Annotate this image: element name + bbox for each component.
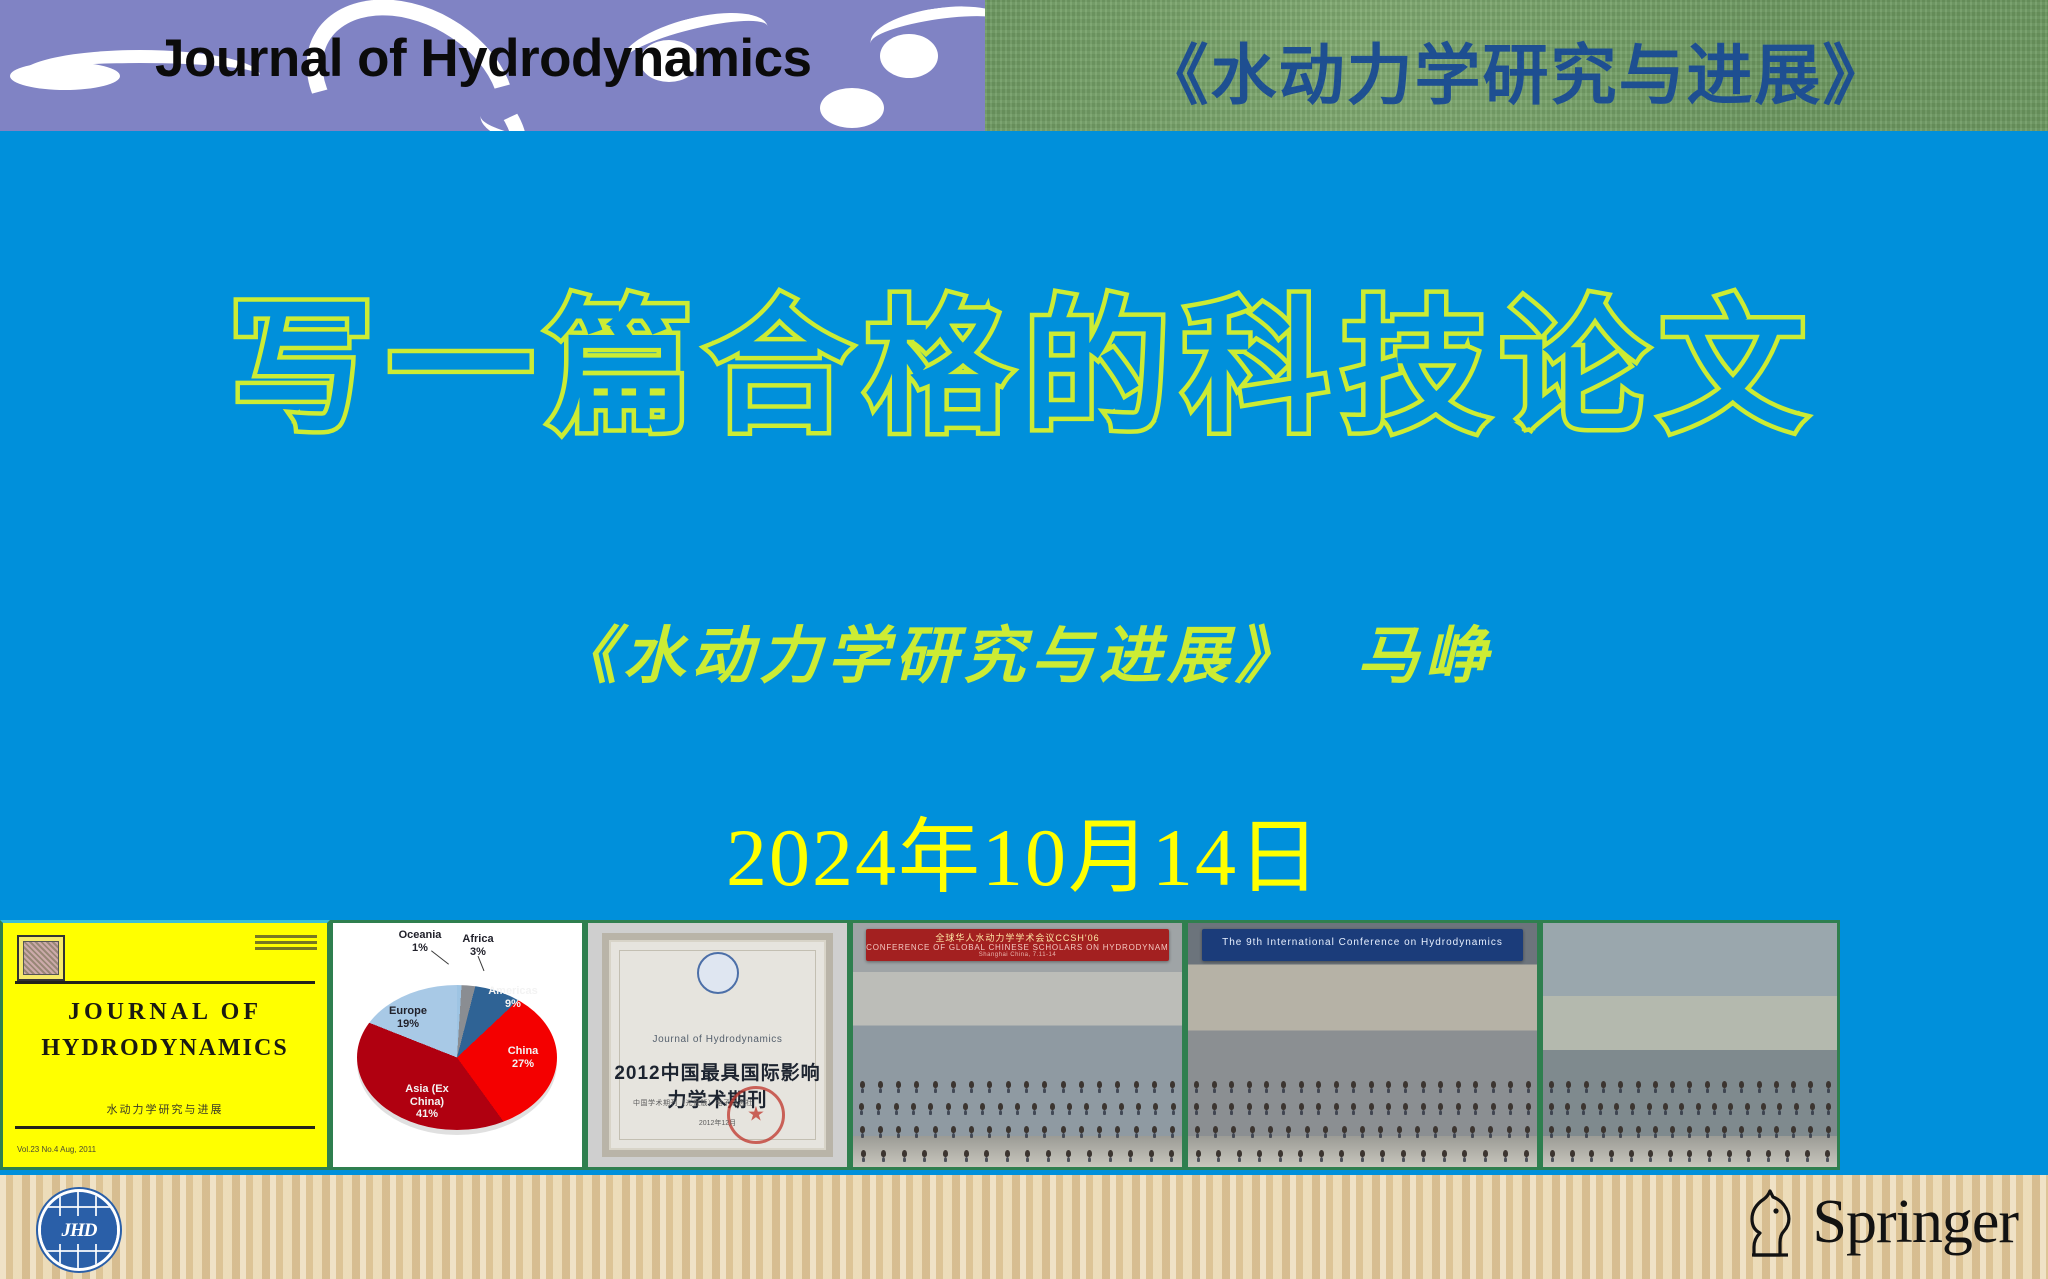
journal-cover-image: JOURNAL OF HYDRODYNAMICS 水动力学研究与进展 Vol.2… <box>0 920 330 1170</box>
crowd-row <box>1543 1103 1837 1110</box>
subtitle-journal-name: 《水动力学研究与进展》 <box>555 619 1303 692</box>
cover-chinese-subtitle: 水动力学研究与进展 <box>3 1101 327 1117</box>
image-strip: JOURNAL OF HYDRODYNAMICS 水动力学研究与进展 Vol.2… <box>0 920 2048 1175</box>
crowd-row <box>853 1103 1182 1110</box>
conference-banner: 全球华人水动力学学术会议CCSH'06 CONFERENCE OF GLOBAL… <box>866 929 1169 961</box>
cover-title-line1: JOURNAL OF <box>3 999 327 1026</box>
crowd-row <box>1543 1081 1837 1088</box>
award-certificate-image: Journal of Hydrodynamics 2012中国最具国际影响力学术… <box>585 920 850 1170</box>
group-photo-crowd <box>1188 1025 1537 1167</box>
divider <box>15 981 315 984</box>
jhd-globe-logo-icon: JHD <box>38 1189 120 1271</box>
journal-title-english: Journal of Hydrodynamics <box>155 28 812 89</box>
group-photo-crowd <box>1543 1025 1837 1167</box>
presentation-slide: Journal of Hydrodynamics 《水动力学研究与进展》 写一篇… <box>0 0 2048 1279</box>
red-seal-icon <box>727 1086 785 1144</box>
crowd-row <box>853 1150 1182 1157</box>
certificate-emblem-icon <box>697 952 739 994</box>
banner-title-text: The 9th International Conference on Hydr… <box>1202 937 1523 948</box>
cover-volume-note: Vol.23 No.4 Aug, 2011 <box>17 1145 96 1154</box>
author-name: 马峥 <box>1357 619 1493 692</box>
page-title: 写一篇合格的科技论文 <box>0 250 2048 460</box>
conference-photo-1: 全球华人水动力学学术会议CCSH'06 CONFERENCE OF GLOBAL… <box>850 920 1185 1170</box>
header-right-band: 《水动力学研究与进展》 <box>985 0 2048 131</box>
crowd-row <box>1543 1126 1837 1133</box>
divider <box>15 1126 315 1129</box>
presentation-date: 2024年10月14日 <box>0 790 2048 909</box>
conference-banner: The 9th International Conference on Hydr… <box>1202 929 1523 961</box>
crowd-row <box>1188 1126 1537 1133</box>
group-photo-crowd <box>853 1025 1182 1167</box>
cover-title-line2: HYDRODYNAMICS <box>3 1035 327 1062</box>
banner-english-text: CONFERENCE OF GLOBAL CHINESE SCHOLARS ON… <box>866 943 1169 952</box>
crowd-row <box>853 1126 1182 1133</box>
slide-footer: JHD Springer <box>0 1175 2048 1279</box>
pie-label-africa: Africa 3% <box>453 933 503 958</box>
crowd-row <box>853 1081 1182 1088</box>
pie-plot-area: Oceania 1% Africa 3% Americas 9% China 2… <box>333 923 582 1167</box>
crowd-row <box>1188 1081 1537 1088</box>
jhd-logo-text: JHD <box>41 1220 117 1242</box>
crowd-row <box>1543 1150 1837 1157</box>
pie-label-europe: Europe 19% <box>375 1005 441 1030</box>
vortex-blob-icon <box>820 88 884 128</box>
subtitle-line: 《水动力学研究与进展》马峥 <box>0 605 2048 695</box>
certificate-english-line: Journal of Hydrodynamics <box>609 1034 826 1045</box>
publisher-emblem-icon <box>17 935 65 981</box>
crowd-row <box>1188 1103 1537 1110</box>
pie-label-asia: Asia (Ex China) 41% <box>387 1083 467 1121</box>
journal-title-chinese: 《水动力学研究与进展》 <box>985 22 2048 118</box>
vortex-blob-icon <box>10 62 120 90</box>
pie-label-americas: Americas 9% <box>475 985 551 1010</box>
vortex-blob-icon <box>880 34 938 78</box>
crowd-row <box>1188 1150 1537 1157</box>
springer-wordmark: Springer <box>1812 1187 2018 1258</box>
pie-label-china: China 27% <box>491 1045 555 1070</box>
slide-header: Journal of Hydrodynamics 《水动力学研究与进展》 <box>0 0 2048 131</box>
certificate-frame: Journal of Hydrodynamics 2012中国最具国际影响力学术… <box>602 933 833 1157</box>
banner-location-text: Shanghai China, 7.11-14 <box>866 952 1169 958</box>
conference-photo-2: The 9th International Conference on Hydr… <box>1185 920 1540 1170</box>
header-left-band: Journal of Hydrodynamics <box>0 0 985 131</box>
conference-photo-3 <box>1540 920 1840 1170</box>
springer-knight-icon <box>1740 1185 1802 1259</box>
strip-filler <box>1840 920 2048 1175</box>
pie-label-oceania: Oceania 1% <box>385 929 455 954</box>
issn-block <box>255 935 317 953</box>
readership-pie-chart: Oceania 1% Africa 3% Americas 9% China 2… <box>330 920 585 1170</box>
certificate-date: 2012年12月 <box>609 1118 826 1128</box>
springer-logo: Springer <box>1740 1185 2018 1259</box>
